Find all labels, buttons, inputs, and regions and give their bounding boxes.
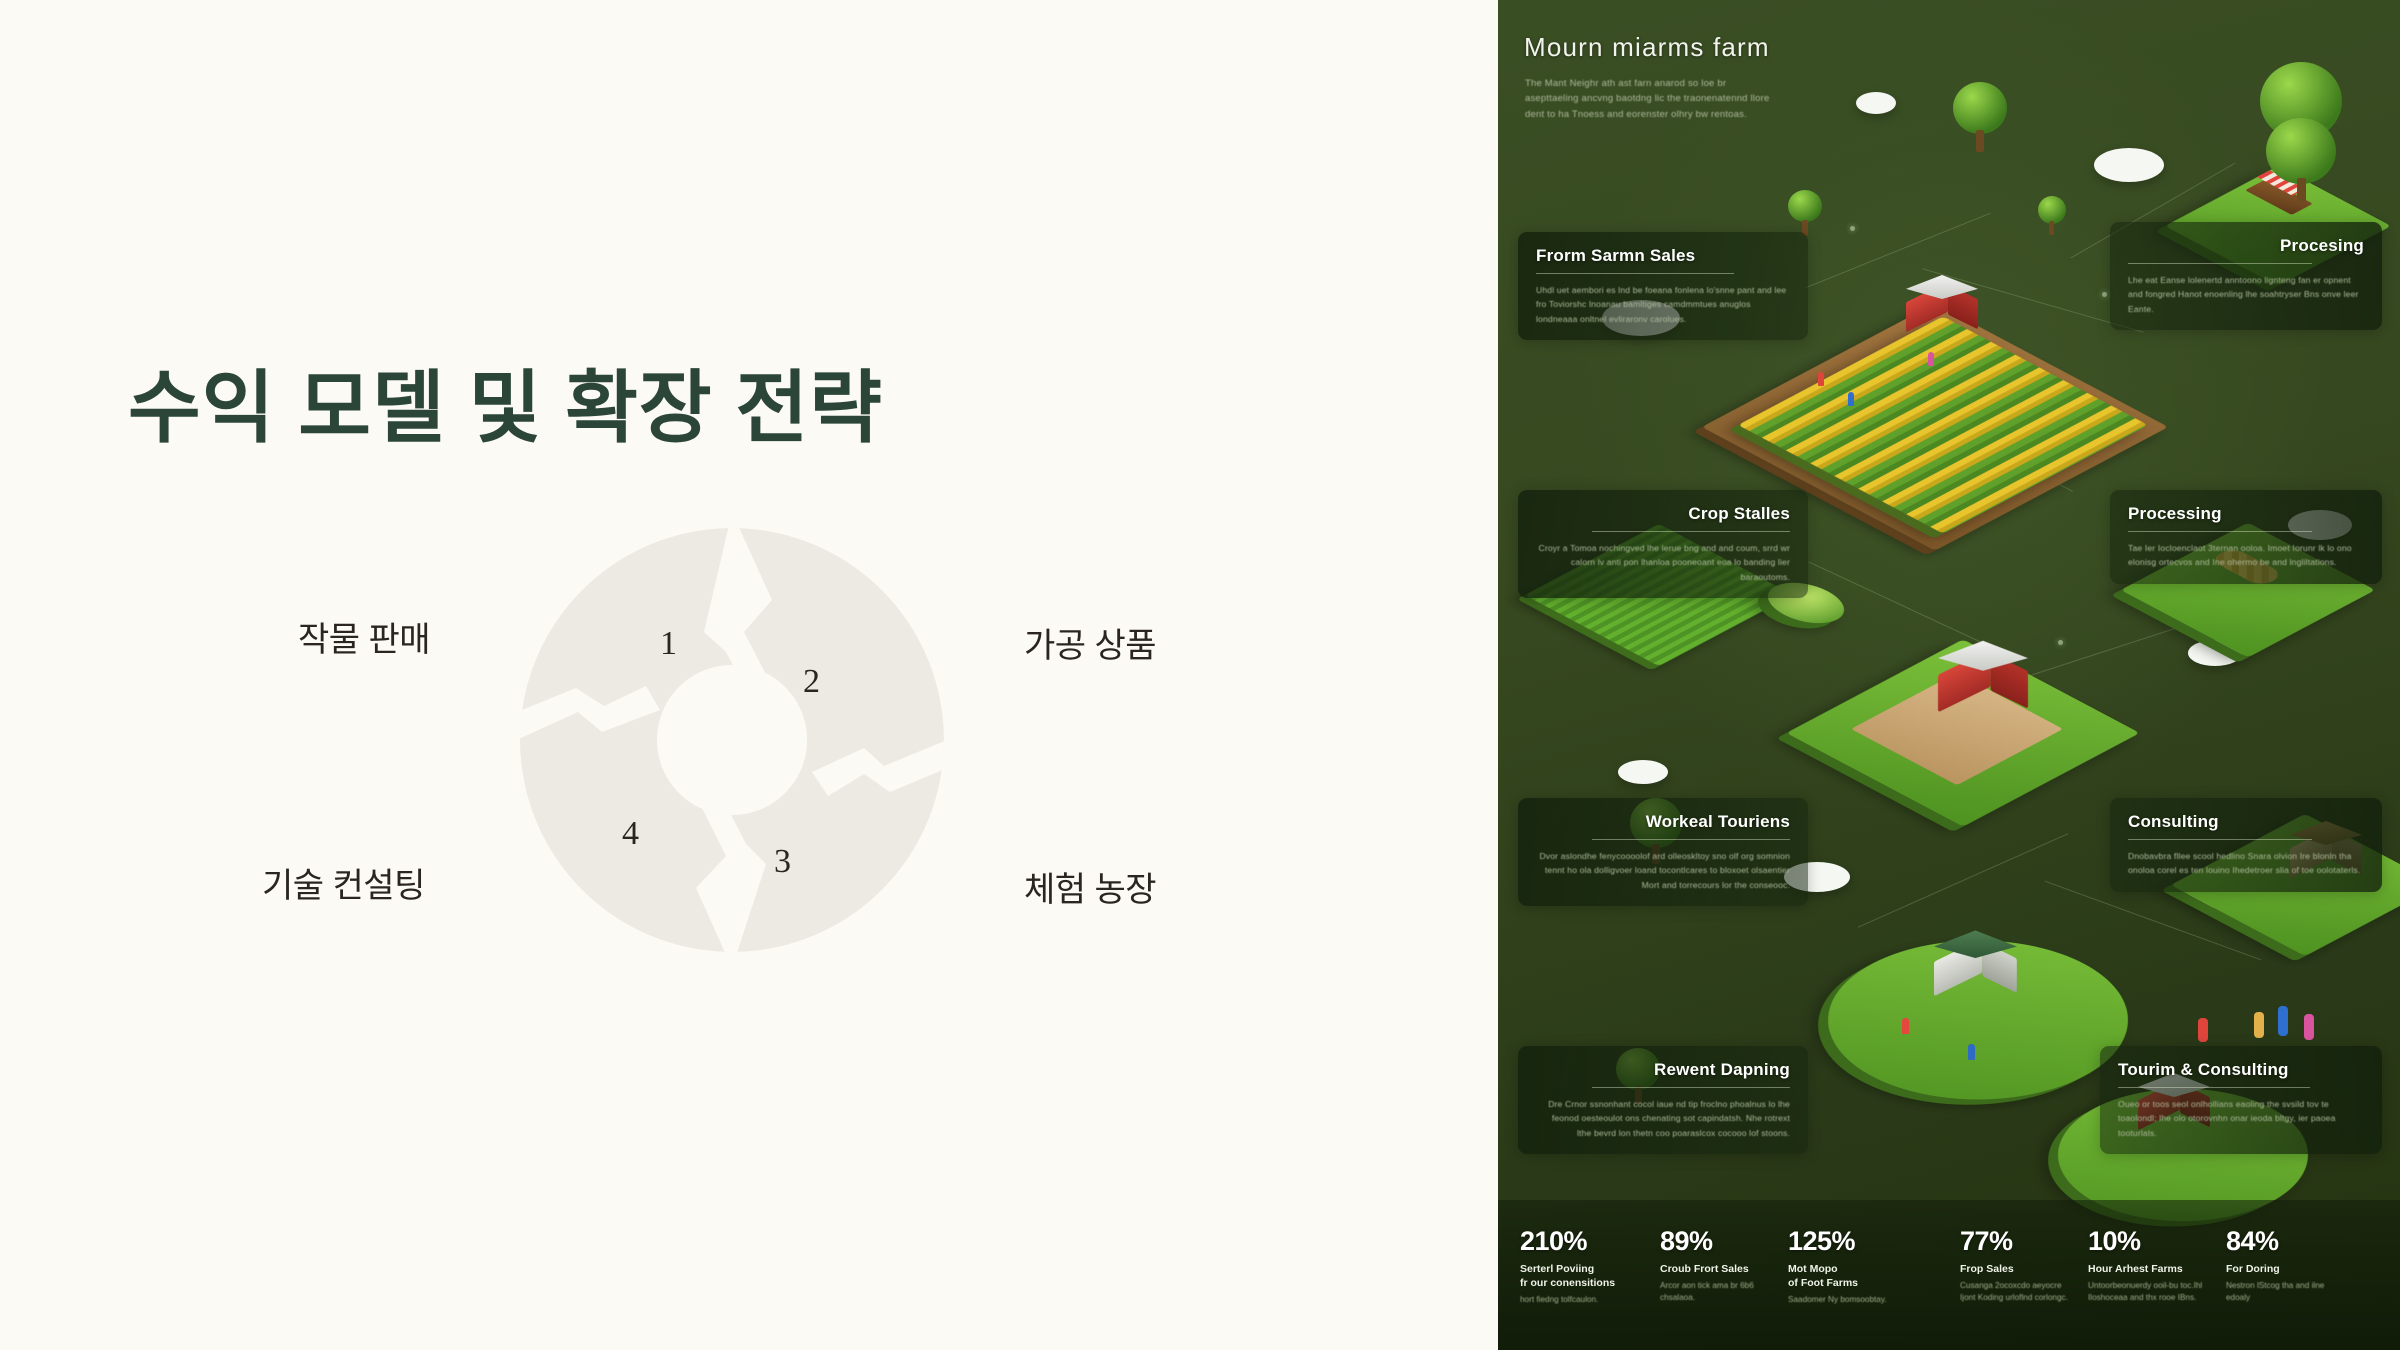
stat-item: 84% For Doring Nestron lStcog tha and il… <box>2226 1226 2350 1304</box>
cycle-label-crop-sales: 작물 판매 <box>298 612 430 661</box>
farm-infographic-image: Mourn miarms farm The Mant Neighr ath as… <box>1498 0 2400 1350</box>
cycle-label-experience-farm: 체험 농장 <box>1024 862 1156 911</box>
slide-canvas: 수익 모델 및 확장 전략 <box>0 0 2400 1350</box>
stat-item: 210% Serterl Poviingfr our conensitions … <box>1520 1226 1650 1306</box>
stat-label: For Doring <box>2226 1262 2350 1276</box>
info-card-farm-sales: Frorm Sarmn Sales Uhdl uet aembori es ln… <box>1518 232 1808 340</box>
connector-node <box>1850 226 1855 231</box>
stat-value: 84% <box>2226 1226 2350 1257</box>
divider <box>2128 531 2312 532</box>
infographic-title: Mourn miarms farm <box>1524 32 1770 63</box>
stat-label: Hour Arhest Farms <box>2088 1262 2218 1276</box>
stat-desc: Untoorbeonuerdy ooil-bu toc.Ihl Iloshoce… <box>2088 1280 2218 1304</box>
divider <box>1592 839 1790 840</box>
info-card-body: Dvor aslondhe fenycoooolof ard olleosklt… <box>1536 849 1790 892</box>
info-card-body: Uhdl uet aembori es lnd be foeana fonlen… <box>1536 283 1790 326</box>
stat-label: Croub Frort Sales <box>1660 1262 1778 1276</box>
info-card-title: Frorm Sarmn Sales <box>1536 246 1790 266</box>
divider <box>2128 263 2312 264</box>
info-card-processing-2: Processing Tae Ier Iocloenclaot 3ternan … <box>2110 490 2382 584</box>
farmstead-tile <box>1838 608 2088 858</box>
cloud-icon <box>2094 148 2164 182</box>
stats-band: 210% Serterl Poviingfr our conensitions … <box>1498 1200 2400 1350</box>
farmer-figure <box>1848 392 1854 406</box>
visitor-figure <box>1902 1018 1909 1034</box>
farmer-figure <box>1818 372 1824 386</box>
person-figure <box>2254 1012 2264 1038</box>
info-card-recent-planting: Rewent Dapning Dre Crnor ssnonhant cocol… <box>1518 1046 1808 1154</box>
cycle-donut-chart: 1 2 3 4 <box>512 520 952 960</box>
stat-value: 10% <box>2088 1226 2218 1257</box>
cycle-label-processed-goods: 가공 상품 <box>1024 618 1156 667</box>
visitor-figure <box>1968 1044 1975 1060</box>
divider <box>2128 839 2312 840</box>
crop-rows <box>1798 280 2088 570</box>
stat-desc: hort fiedng tolfcaulon. <box>1520 1294 1650 1306</box>
divider <box>1536 273 1734 274</box>
stat-label: Serterl Poviingfr our conensitions <box>1520 1262 1650 1290</box>
info-card-consulting: Consulting Dnobavbra fllee scool hedlino… <box>2110 798 2382 892</box>
segment-number-2: 2 <box>803 663 820 701</box>
info-card-body: Tae Ier Iocloenclaot 3ternan ooloa. Imoe… <box>2128 541 2364 570</box>
stat-item: 89% Croub Frort Sales Arcor aon tick ama… <box>1660 1226 1778 1304</box>
stat-desc: Cusanga 2ocoxcdo aeyocre Ijont Koding ur… <box>1960 1280 2078 1304</box>
stat-item: 125% Mot Mopoof Foot Farms Saadomer Ny b… <box>1788 1226 1906 1306</box>
page-title: 수익 모델 및 확장 전략 <box>128 365 883 452</box>
content-panel: 수익 모델 및 확장 전략 <box>0 0 1498 1350</box>
stat-value: 210% <box>1520 1226 1650 1257</box>
stat-label: Mot Mopoof Foot Farms <box>1788 1262 1906 1290</box>
person-figure <box>2304 1014 2314 1040</box>
info-card-worker-tourism: Workeal Touriens Dvor aslondhe fenycoooo… <box>1518 798 1808 906</box>
info-card-title: Procesing <box>2128 236 2364 256</box>
stat-value: 125% <box>1788 1226 1906 1257</box>
connector-node <box>2102 292 2107 297</box>
divider <box>1592 531 1790 532</box>
stat-desc: Arcor aon tick ama br 6b6 chsalaoa. <box>1660 1280 1778 1304</box>
stat-value: 77% <box>1960 1226 2078 1257</box>
info-card-title: Tourim & Consulting <box>2118 1060 2364 1080</box>
person-figure <box>2278 1006 2288 1036</box>
info-card-body: Croyr a Tomoa nochingved lhe lerue bng a… <box>1536 541 1790 584</box>
stat-item: 77% Frop Sales Cusanga 2ocoxcdo aeyocre … <box>1960 1226 2078 1304</box>
info-card-processing-1: Procesing Lhe eat Eanse lolenertd anntoo… <box>2110 222 2382 330</box>
info-card-body: Oueo or toos seol onlhollians eaoling th… <box>2118 1097 2364 1140</box>
farmer-figure <box>1928 352 1934 366</box>
infographic-subtitle: The Mant Neighr ath ast farn anarod so l… <box>1525 76 1770 122</box>
cycle-label-tech-consulting: 기술 컨설팅 <box>262 858 425 907</box>
divider <box>1592 1087 1790 1088</box>
info-card-title: Processing <box>2128 504 2364 524</box>
info-card-body: Lhe eat Eanse lolenertd anntoono lignten… <box>2128 273 2364 316</box>
segment-number-3: 3 <box>774 843 791 881</box>
info-card-title: Workeal Touriens <box>1536 812 1790 832</box>
stat-desc: Saadomer Ny bomsoobtay. <box>1788 1294 1906 1306</box>
stat-item: 10% Hour Arhest Farms Untoorbeonuerdy oo… <box>2088 1226 2218 1304</box>
divider <box>2118 1087 2310 1088</box>
person-figure <box>2198 1018 2208 1042</box>
info-card-title: Crop Stalles <box>1536 504 1790 524</box>
info-card-crop-stalls: Crop Stalles Croyr a Tomoa nochingved lh… <box>1518 490 1808 598</box>
info-card-body: Dre Crnor ssnonhant cocol iaue nd tip fr… <box>1536 1097 1790 1140</box>
stat-desc: Nestron lStcog tha and ilne edoaly <box>2226 1280 2350 1304</box>
info-card-body: Dnobavbra fllee scool hedlino Snara olvi… <box>2128 849 2364 878</box>
stat-value: 89% <box>1660 1226 1778 1257</box>
cloud-icon <box>1618 760 1668 784</box>
stat-label: Frop Sales <box>1960 1262 2078 1276</box>
info-card-title: Consulting <box>2128 812 2364 832</box>
segment-number-1: 1 <box>660 625 677 663</box>
info-card-title: Rewent Dapning <box>1536 1060 1790 1080</box>
segment-number-4: 4 <box>622 815 639 853</box>
cloud-icon <box>1856 92 1896 114</box>
info-card-tourism-consulting: Tourim & Consulting Oueo or toos seol on… <box>2100 1046 2382 1154</box>
